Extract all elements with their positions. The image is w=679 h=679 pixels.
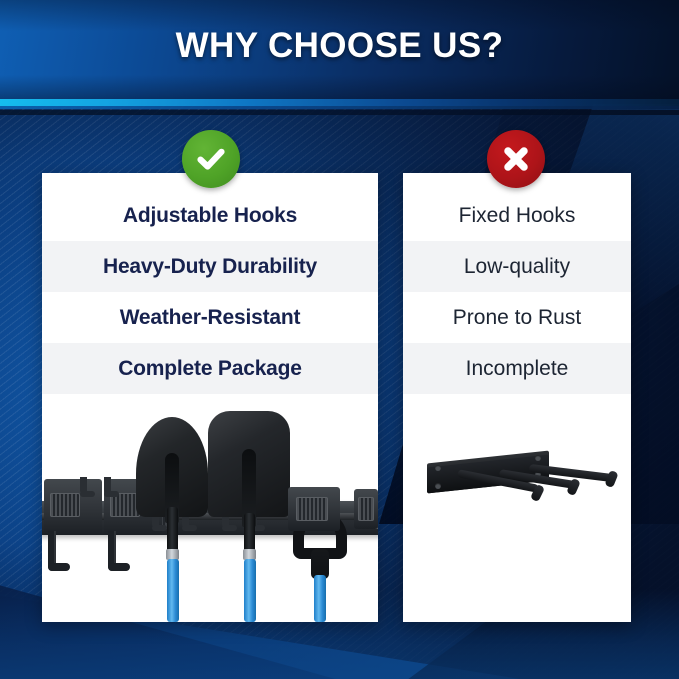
cons-item-label: Prone to Rust [453,306,581,330]
list-item: Incomplete [403,343,631,394]
list-item: Complete Package [42,343,378,394]
pros-item-label: Heavy-Duty Durability [103,255,317,279]
list-item: Prone to Rust [403,292,631,343]
list-item: Heavy-Duty Durability [42,241,378,292]
pros-item-label: Complete Package [118,357,302,381]
bracket-mesh [358,497,374,521]
promo-comparison-graphic: WHY CHOOSE US? Adjustable Hooks Heavy-Du… [0,0,679,679]
j-hook [48,531,56,571]
rail-bracket [44,479,102,535]
list-item: Low-quality [403,241,631,292]
shovel-shaft-black [167,507,178,553]
check-icon [182,130,240,188]
background-dark-streak [0,110,679,115]
pros-item-label: Adjustable Hooks [123,204,297,228]
cons-product-image [403,403,631,622]
cons-feature-list: Fixed Hooks Low-quality Prone to Rust In… [403,190,631,394]
cross-icon [487,130,545,188]
cons-item-label: Low-quality [464,255,570,279]
list-item: Adjustable Hooks [42,190,378,241]
page-title: WHY CHOOSE US? [0,26,679,66]
shovel-shaft-black [244,513,255,553]
background-secondary-streak [0,106,679,109]
small-hook [104,477,111,497]
cons-item-label: Incomplete [466,357,569,381]
pros-feature-list: Adjustable Hooks Heavy-Duty Durability W… [42,190,378,394]
bracket-mesh [296,497,328,521]
rail-bracket [288,487,340,531]
pros-item-label: Weather-Resistant [120,306,301,330]
j-hook [108,531,116,571]
pros-product-image [42,403,378,622]
screw-hole [435,483,441,489]
screw-hole [535,455,541,461]
rail-bracket [354,489,378,529]
cons-item-label: Fixed Hooks [459,204,576,228]
shovel-shaft-blue [167,559,179,622]
list-item: Weather-Resistant [42,292,378,343]
list-item: Fixed Hooks [403,190,631,241]
bracket-mesh [50,493,80,517]
screw-hole [435,465,441,471]
spade-shaft-blue [314,575,326,622]
small-hook [80,477,87,497]
background-cyan-streak [0,99,679,106]
pros-card: Adjustable Hooks Heavy-Duty Durability W… [42,173,378,622]
cons-card: Fixed Hooks Low-quality Prone to Rust In… [403,173,631,622]
shovel-shaft-blue [244,559,256,622]
